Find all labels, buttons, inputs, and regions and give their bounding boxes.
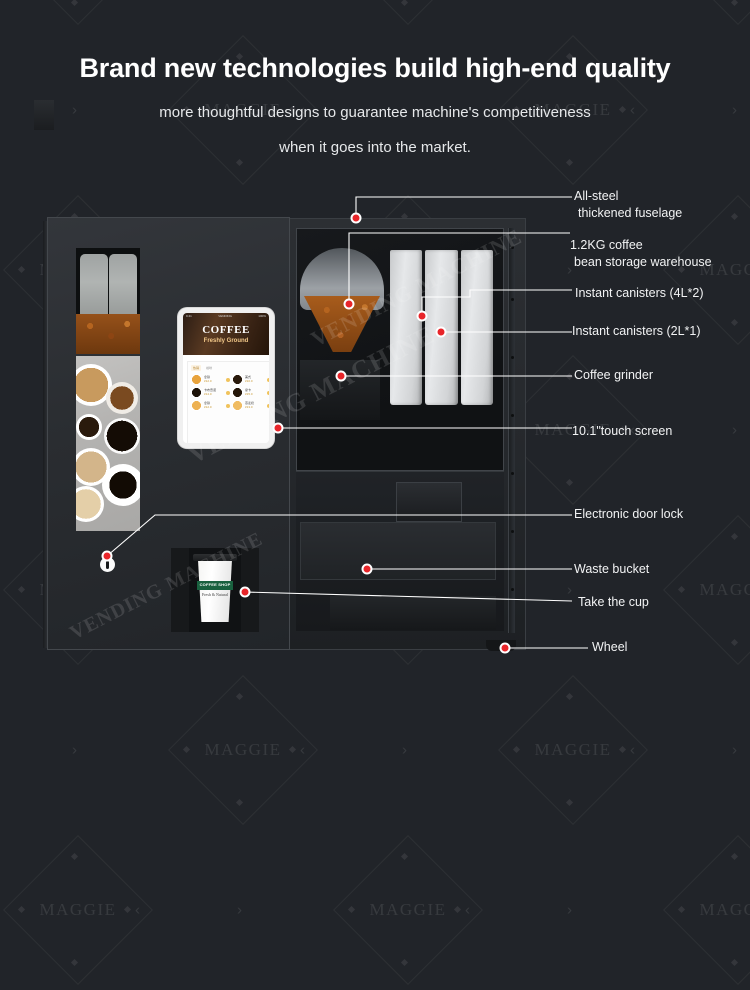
watermark-text: MAGGIE	[40, 900, 117, 920]
product-item[interactable]: 拿铁¥12.0	[191, 374, 230, 385]
watermark-text: MAGGIE	[370, 900, 447, 920]
add-to-cart-icon[interactable]	[267, 378, 271, 382]
product-item[interactable]: 美式¥10.0	[232, 374, 271, 385]
watermark-chevron-right: ‹	[300, 742, 305, 759]
cabinet-right-rail	[508, 228, 515, 633]
watermark-text: MAGGIE	[700, 900, 750, 920]
product-price: ¥12.0	[204, 406, 224, 410]
watermark-diamond	[3, 835, 153, 985]
watermark-dot	[71, 853, 78, 860]
product-item[interactable]: 拿铁¥12.0	[191, 400, 230, 411]
coffee-cup-photo	[76, 414, 102, 440]
watermark-dot	[401, 853, 408, 860]
watermark-text: MAGGIE	[535, 740, 612, 760]
watermark-chevron-left: ›	[402, 742, 407, 759]
watermark-chevron-right: ‹	[135, 902, 140, 919]
watermark-dot	[513, 746, 520, 753]
product-thumbnail	[232, 387, 243, 398]
coffee-cup-photo	[104, 418, 140, 454]
tab-hot[interactable]: 热销	[191, 365, 201, 371]
rail-screw	[511, 472, 514, 475]
product-thumbnail	[232, 374, 243, 385]
product-price: ¥12.0	[204, 380, 224, 384]
waste-bucket-compartment	[300, 522, 496, 580]
watermark-chevron-right: ‹	[465, 902, 470, 919]
watermark-dot	[731, 959, 738, 966]
tab-coffee[interactable]: 咖啡	[204, 365, 214, 371]
banner-subtitle: Freshly Ground	[183, 338, 269, 344]
screen-banner: 9:41 VENDING 100% COFFEE Freshly Ground	[183, 313, 269, 355]
cup-tagline: Fresh & Natural	[195, 592, 235, 597]
subtitle-line-2: when it goes into the market.	[0, 139, 750, 156]
bean-display-window	[76, 248, 140, 354]
watermark-chevron-right: ‹	[630, 742, 635, 759]
coffee-photo-panel	[76, 356, 140, 531]
brewer-unit	[396, 482, 462, 522]
watermark-text: MAGGIE	[205, 740, 282, 760]
subtitle-line-1: more thoughtful designs to guarantee mac…	[0, 104, 750, 121]
cup-brand-band: COFFEE SHOP	[197, 581, 233, 590]
bean-pile	[76, 314, 140, 354]
watermark-tile: MAGGIE›‹	[573, 830, 750, 990]
status-battery: 100%	[258, 314, 266, 318]
coffee-cup-photo	[102, 464, 140, 506]
watermark-dot	[348, 906, 355, 913]
rail-screw	[511, 588, 514, 591]
rail-screw	[511, 414, 514, 417]
rail-screw	[511, 298, 514, 301]
page-title: Brand new technologies build high-end qu…	[0, 53, 750, 84]
watermark-dot	[731, 853, 738, 860]
watermark-dot	[566, 799, 573, 806]
product-item[interactable]: 摩卡¥15.0	[232, 387, 271, 398]
watermark-dot	[289, 746, 296, 753]
status-brand: VENDING	[218, 314, 232, 318]
cup-brand-text: COFFEE SHOP	[197, 582, 233, 587]
watermark-dot	[678, 906, 685, 913]
add-to-cart-icon[interactable]	[226, 378, 230, 382]
electronic-door-lock-icon	[100, 557, 115, 572]
rail-screw	[511, 530, 514, 533]
watermark-diamond	[663, 835, 750, 985]
rail-screw	[511, 356, 514, 359]
watermark-chevron-left: ›	[72, 742, 77, 759]
watermark-dot	[454, 906, 461, 913]
product-price: ¥10.0	[245, 380, 265, 384]
watermark-chevron-left: ›	[732, 742, 737, 759]
lower-tray	[330, 596, 496, 630]
product-item[interactable]: 卡布奇诺¥14.0	[191, 387, 230, 398]
watermark-tile: MAGGIE›‹	[243, 830, 573, 990]
watermark-dot	[236, 799, 243, 806]
watermark-tile: MAGGIE›‹	[0, 830, 243, 990]
cup-bay-wall-right	[241, 548, 259, 632]
watermark-dot	[401, 959, 408, 966]
wheel-caster	[486, 640, 516, 651]
watermark-dot	[183, 746, 190, 753]
coffee-cup-photo	[76, 486, 104, 522]
product-thumbnail	[191, 387, 202, 398]
add-to-cart-icon[interactable]	[226, 404, 230, 408]
screen-status-bar: 9:41 VENDING 100%	[183, 313, 269, 319]
status-time: 9:41	[186, 314, 192, 318]
watermark-chevron-left: ›	[237, 902, 242, 919]
watermark-chevron-left: ›	[567, 902, 572, 919]
keyhole-icon	[106, 561, 109, 569]
add-to-cart-icon[interactable]	[226, 391, 230, 395]
product-thumbnail	[191, 374, 202, 385]
watermark-dot	[124, 906, 131, 913]
banner-title: COFFEE	[183, 324, 269, 336]
watermark-dot	[18, 906, 25, 913]
product-category-tabs: 热销 咖啡	[191, 365, 271, 371]
coffee-cup-photo	[106, 382, 138, 414]
watermark-dot	[71, 959, 78, 966]
header: Brand new technologies build high-end qu…	[0, 0, 750, 156]
watermark-diamond	[333, 835, 483, 985]
watermark-dot	[619, 746, 626, 753]
product-thumbnail	[191, 400, 202, 411]
product-price: ¥15.0	[245, 393, 265, 397]
add-to-cart-icon[interactable]	[267, 391, 271, 395]
product-price: ¥14.0	[204, 393, 224, 397]
product-thumbnail	[232, 400, 243, 411]
